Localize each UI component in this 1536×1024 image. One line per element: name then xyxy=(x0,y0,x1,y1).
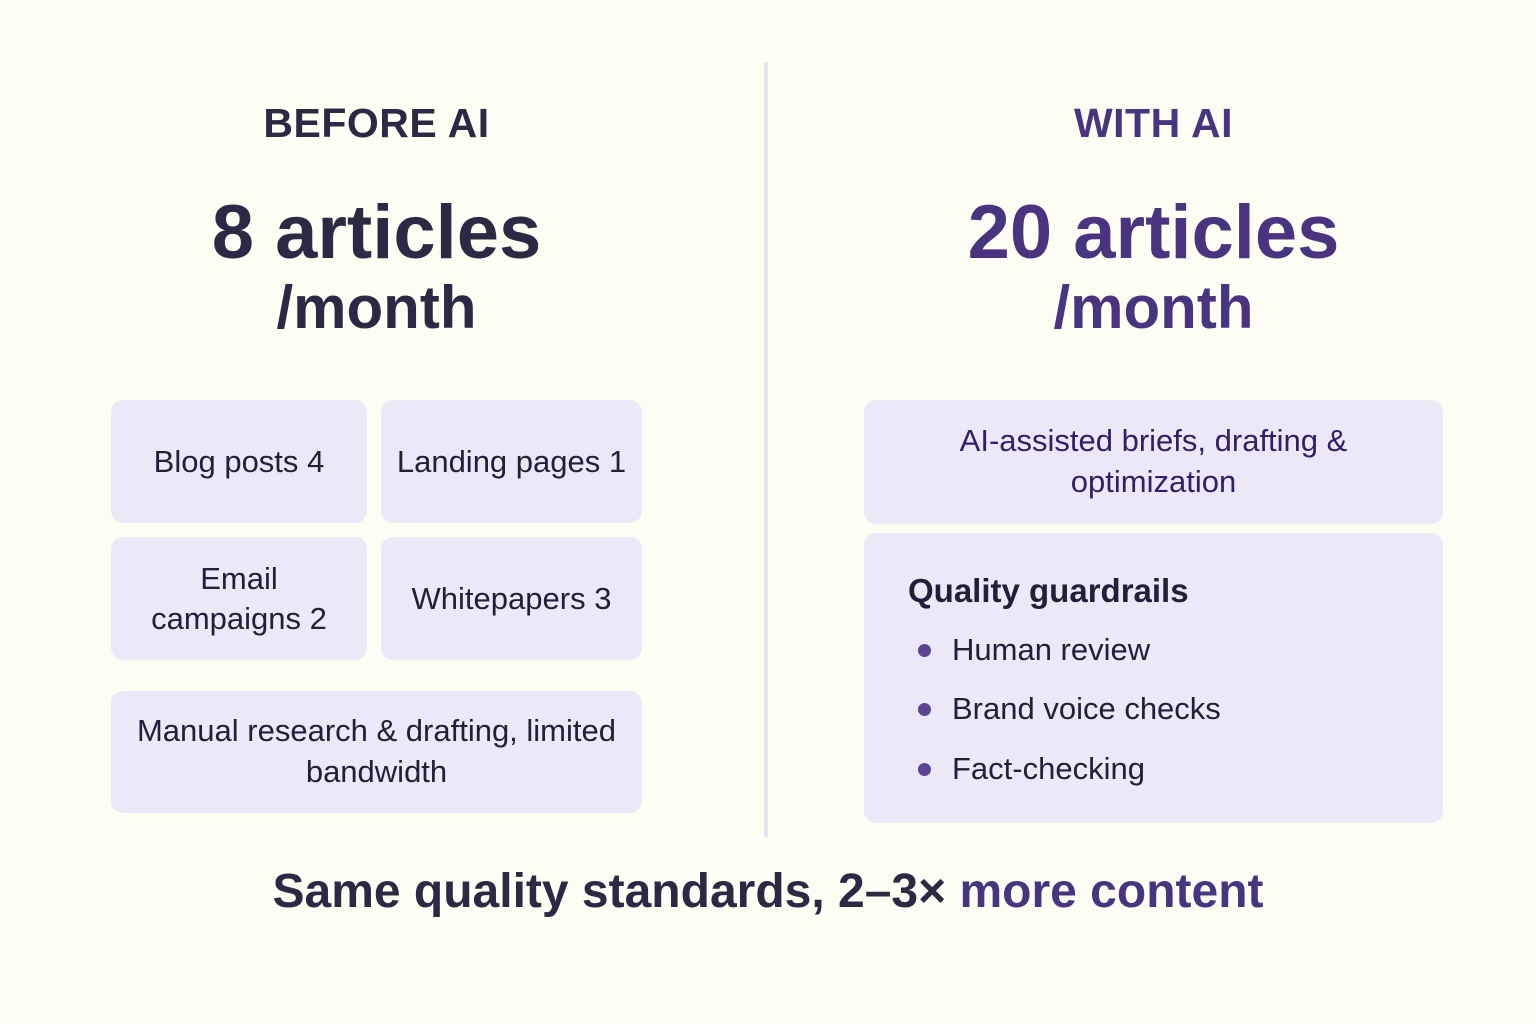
metric-value: 3 xyxy=(594,581,611,616)
guardrail-label: Fact-checking xyxy=(952,751,1145,786)
guardrails-title: Quality guardrails xyxy=(908,573,1399,609)
before-ai-eyebrow: BEFORE AI xyxy=(111,103,642,144)
metric-card-blog-posts[interactable]: Blog posts 4 xyxy=(111,400,367,523)
before-ai-metric-grid: Blog posts 4 Landing pages 1 Email campa… xyxy=(111,400,642,660)
metric-card-content: Landing pages 1 xyxy=(397,442,626,482)
guardrails-list: Human review Brand voice checks Fact-che… xyxy=(908,631,1399,787)
with-ai-capability-text: AI-assisted briefs, drafting & optimizat… xyxy=(884,421,1423,503)
before-ai-headline-number: 8 articles xyxy=(111,193,642,274)
before-ai-headline-unit: /month xyxy=(111,276,642,339)
with-ai-guardrails-card[interactable]: Quality guardrails Human review Brand vo… xyxy=(864,533,1443,823)
footer-text-accent: more content xyxy=(959,865,1263,918)
metric-card-content: Blog posts 4 xyxy=(154,442,325,482)
metric-value: 1 xyxy=(609,444,626,479)
bullet-dot-icon xyxy=(918,703,931,716)
bullet-dot-icon xyxy=(918,644,931,657)
with-ai-eyebrow: WITH AI xyxy=(864,103,1443,144)
with-ai-headline-unit: /month xyxy=(864,276,1443,339)
with-ai-headline-number: 20 articles xyxy=(864,193,1443,274)
metric-card-landing-pages[interactable]: Landing pages 1 xyxy=(381,400,642,523)
with-ai-heading-group: WITH AI 20 articles /month xyxy=(864,0,1443,339)
before-ai-note-text: Manual research & drafting, limited band… xyxy=(127,711,626,793)
infographic-canvas: BEFORE AI 8 articles /month Blog posts 4… xyxy=(0,0,1536,1024)
guardrail-label: Brand voice checks xyxy=(952,691,1221,726)
footer-summary: Same quality standards, 2–3× more conten… xyxy=(0,866,1536,919)
with-ai-capability-card[interactable]: AI-assisted briefs, drafting & optimizat… xyxy=(864,400,1443,524)
metric-value: 4 xyxy=(307,444,324,479)
metric-value: 2 xyxy=(310,601,327,636)
metric-card-whitepapers[interactable]: Whitepapers 3 xyxy=(381,537,642,660)
metric-label: Email campaigns xyxy=(151,561,301,636)
metric-label: Landing pages xyxy=(397,444,600,479)
list-item: Brand voice checks xyxy=(918,690,1399,727)
list-item: Fact-checking xyxy=(918,750,1399,787)
before-ai-heading-group: BEFORE AI 8 articles /month xyxy=(111,0,642,339)
bullet-dot-icon xyxy=(918,763,931,776)
metric-label: Blog posts xyxy=(154,444,299,479)
metric-card-content: Email campaigns 2 xyxy=(125,559,353,638)
metric-card-content: Whitepapers 3 xyxy=(412,579,612,619)
metric-label: Whitepapers xyxy=(412,581,586,616)
list-item: Human review xyxy=(918,631,1399,668)
before-ai-note-card[interactable]: Manual research & drafting, limited band… xyxy=(111,691,642,813)
metric-card-email-campaigns[interactable]: Email campaigns 2 xyxy=(111,537,367,660)
footer-text-primary: Same quality standards, 2–3× xyxy=(272,865,946,918)
guardrail-label: Human review xyxy=(952,632,1150,667)
